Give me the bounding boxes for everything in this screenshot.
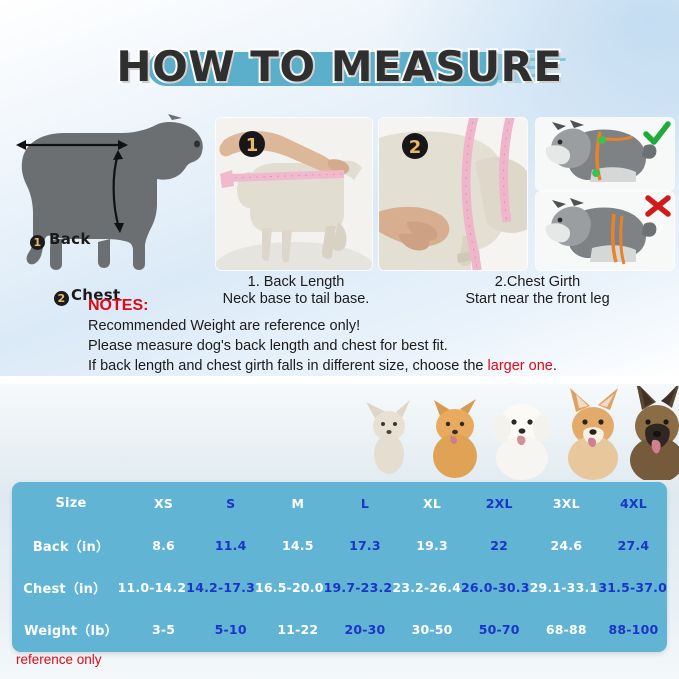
table-cell: 14.5: [264, 538, 331, 553]
table-cell: 11-22: [264, 622, 331, 637]
row-label: Chest（in）: [12, 578, 118, 597]
chest-girth-photo: 2: [379, 118, 527, 270]
table-cell: 16.5-20.0: [255, 580, 324, 595]
table-cell: 19.3: [399, 538, 466, 553]
notes-line-3-highlight: larger one: [488, 358, 553, 374]
row-label: Weight（lb）: [12, 620, 130, 639]
dog-silhouette-icon: [2, 112, 214, 280]
size-chart-table: SizeXSSMLXL2XL3XL4XLBack（in）8.611.414.51…: [12, 482, 667, 652]
table-cell: 23.2-26.4: [392, 580, 461, 595]
section-divider: [0, 376, 679, 384]
back-caption-title: 1. Back Length: [216, 274, 376, 291]
notes-line-3-b: .: [553, 358, 557, 374]
svg-text:1: 1: [246, 135, 259, 156]
table-cell: 24.6: [533, 538, 600, 553]
table-cell: 26.0-30.3: [461, 580, 530, 595]
table-cell: 14.2-17.3: [186, 580, 255, 595]
size-chart-page: HOW TO MEASURE 1Back 2Chest: [0, 0, 679, 679]
notes-line-3-a: If back length and chest girth falls in …: [88, 358, 488, 374]
row-label: Back（in）: [12, 536, 130, 555]
correct-fit-photo: [536, 118, 674, 190]
table-row: Chest（in）11.0-14.214.2-17.316.5-20.019.7…: [12, 566, 667, 608]
size-header-cell: 2XL: [466, 496, 533, 511]
notes-line-3: If back length and chest girth falls in …: [88, 356, 668, 376]
table-row: Weight（lb）3-55-1011-2220-3030-5050-7068-…: [12, 608, 667, 650]
dog-german-shepherd: [630, 386, 679, 480]
back-measure-label: 1Back: [30, 230, 91, 250]
table-cell: 11.0-14.2: [118, 580, 187, 595]
dog-chihuahua: [366, 400, 410, 474]
notes-line-2: Please measure dog's back length and che…: [88, 336, 668, 356]
page-title: HOW TO MEASURE: [0, 36, 679, 98]
table-cell: 19.7-23.2: [324, 580, 393, 595]
dog-pomeranian: [433, 399, 477, 478]
table-cell: 17.3: [331, 538, 398, 553]
table-cell: 31.5-37.0: [598, 580, 667, 595]
table-cell: 22: [466, 538, 533, 553]
table-cell: 30-50: [399, 622, 466, 637]
incorrect-fit-photo: [536, 192, 674, 270]
table-cell: 8.6: [130, 538, 197, 553]
table-cell: 5-10: [197, 622, 264, 637]
size-header-cell: 4XL: [600, 496, 667, 511]
size-header-cell: L: [331, 496, 398, 511]
reference-only-note: reference only: [16, 652, 102, 667]
notes-title: NOTES:: [88, 295, 668, 316]
row-label: Size: [12, 496, 130, 511]
back-length-photo: 1: [216, 118, 372, 270]
table-cell: 3-5: [130, 622, 197, 637]
dog-corgi: [568, 388, 618, 480]
notes-block: NOTES: Recommended Weight are reference …: [88, 295, 668, 376]
chest-badge: 2: [54, 291, 69, 306]
table-cell: 68-88: [533, 622, 600, 637]
chest-caption-title: 2.Chest Girth: [430, 274, 645, 291]
size-header-cell: 3XL: [533, 496, 600, 511]
table-cell: 20-30: [331, 622, 398, 637]
table-row: Back（in）8.611.414.517.319.32224.627.4: [12, 524, 667, 566]
back-badge: 1: [30, 235, 45, 250]
title-banner: HOW TO MEASURE: [0, 36, 679, 98]
table-cell: 29.1-33.1: [530, 580, 599, 595]
size-header-cell: XS: [130, 496, 197, 511]
dog-silhouette-diagram: 1Back 2Chest: [2, 112, 214, 280]
notes-line-1: Recommended Weight are reference only!: [88, 316, 668, 336]
table-cell: 11.4: [197, 538, 264, 553]
svg-text:2: 2: [409, 137, 422, 158]
size-header-cell: XL: [399, 496, 466, 511]
dog-bichon: [493, 404, 551, 480]
dog-breed-lineup: [352, 386, 679, 480]
table-cell: 88-100: [600, 622, 667, 637]
table-cell: 27.4: [600, 538, 667, 553]
size-header-cell: S: [197, 496, 264, 511]
size-header-cell: M: [264, 496, 331, 511]
table-cell: 50-70: [466, 622, 533, 637]
table-row: SizeXSSMLXL2XL3XL4XL: [12, 482, 667, 524]
back-label-text: Back: [49, 230, 91, 248]
